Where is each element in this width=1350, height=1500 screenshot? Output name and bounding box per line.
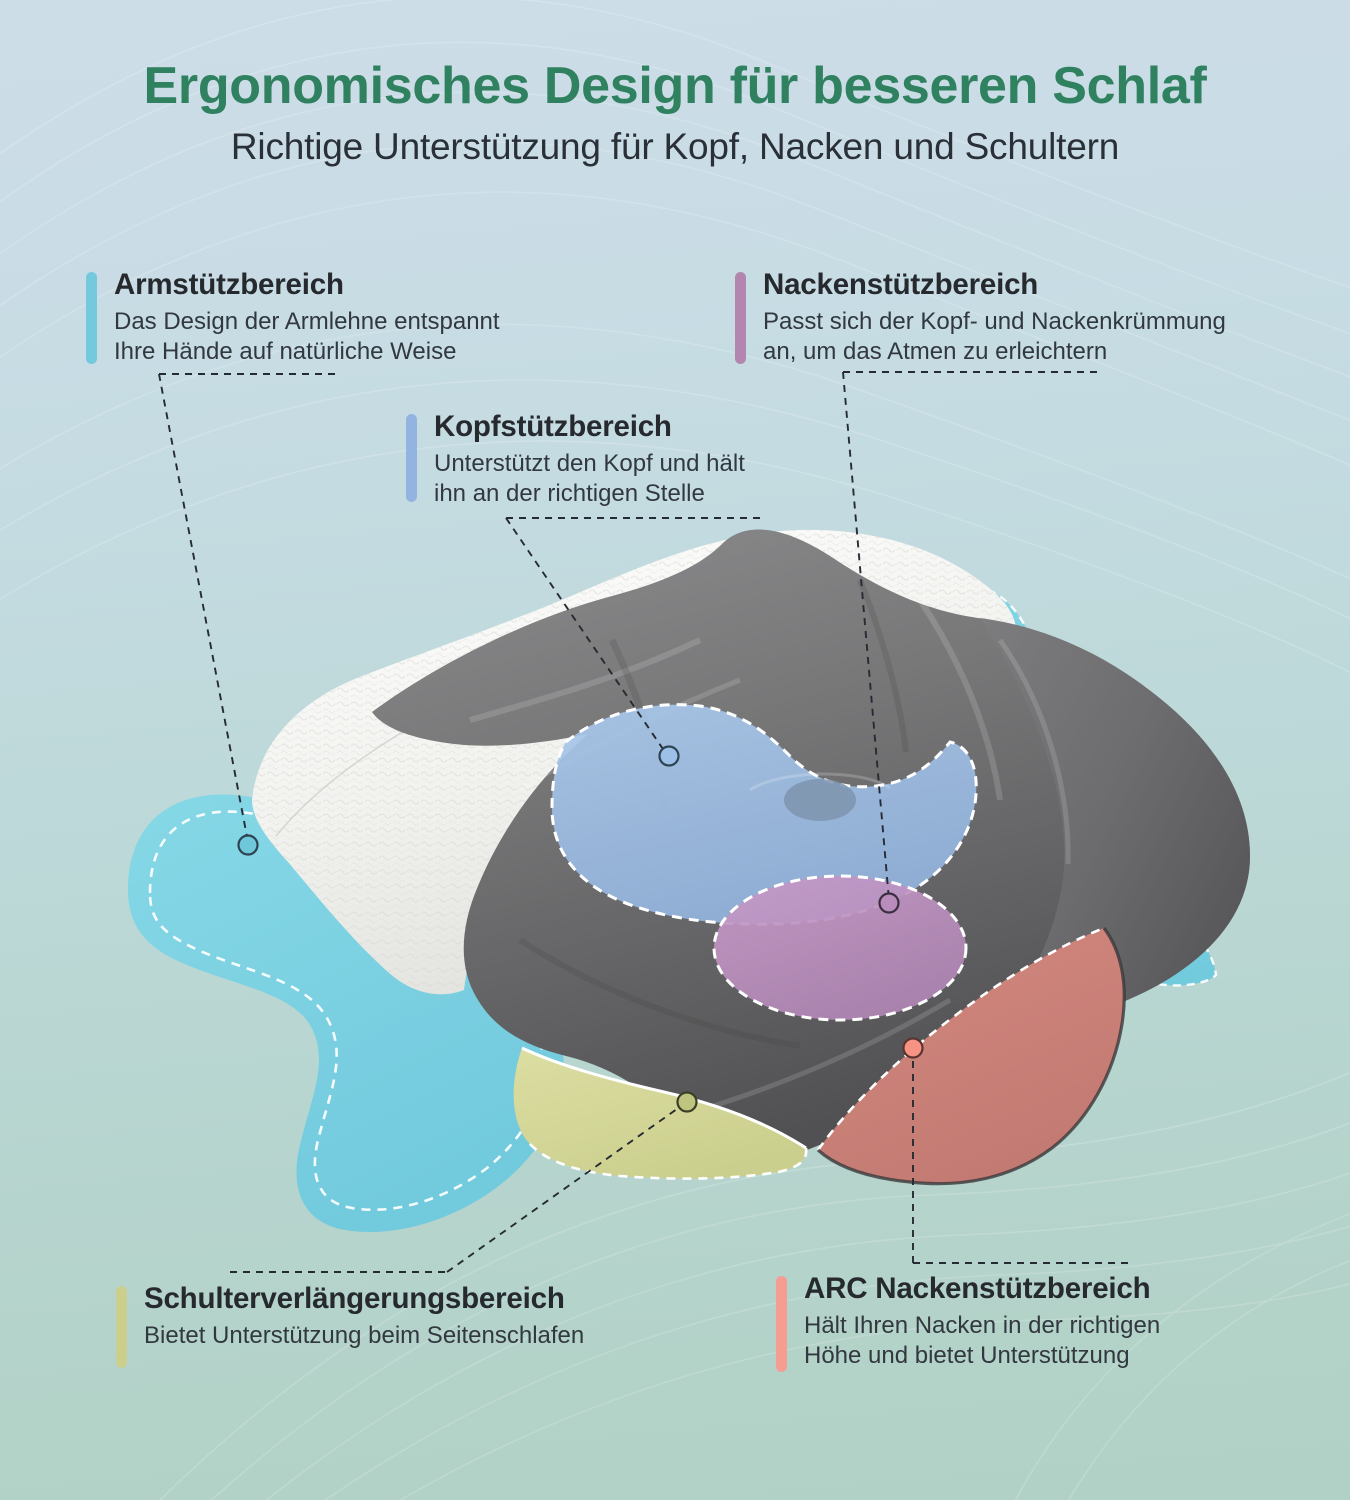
- marker-dot-arm: [239, 836, 258, 855]
- accent-bar-arc: [776, 1276, 787, 1372]
- callout-neck-heading: Nackenstützbereich: [763, 268, 1226, 301]
- callout-arm-description: Das Design der Armlehne entspannt Ihre H…: [114, 307, 500, 367]
- leader-line-head-drop: [506, 518, 665, 752]
- region-arm-support-right-upper: [964, 590, 1044, 790]
- callout-arm-heading: Armstützbereich: [114, 268, 500, 301]
- callout-neck-description: Passt sich der Kopf- und Nackenkrümmung …: [763, 307, 1226, 367]
- leader-line-neck-drop: [843, 372, 889, 900]
- callout-head-description: Unterstützt den Kopf und hält ihn an der…: [434, 449, 745, 509]
- accent-bar-arm: [86, 272, 97, 364]
- region-arm-support: [128, 794, 564, 1232]
- region-arc-neck-support: [818, 928, 1124, 1184]
- region-head-support: [552, 705, 976, 925]
- callout-arc-neck-support[interactable]: ARC Nackenstützbereich Hält Ihren Nacken…: [776, 1272, 1160, 1372]
- callout-head-heading: Kopfstützbereich: [434, 410, 745, 443]
- leader-line-shoulder-drop: [447, 1104, 684, 1272]
- region-shoulder-extension: [514, 1048, 807, 1179]
- pillow-cover: [252, 530, 1016, 994]
- marker-dot-head: [660, 747, 679, 766]
- infographic-canvas: Ergonomisches Design für besseren Schlaf…: [0, 0, 1350, 1500]
- accent-bar-head: [406, 414, 417, 502]
- callout-neck-support[interactable]: Nackenstützbereich Passt sich der Kopf- …: [735, 268, 1226, 367]
- leader-line-arm-drop: [159, 374, 248, 842]
- pillow-foam-body: [372, 529, 1250, 1157]
- marker-dot-shoulder: [678, 1093, 697, 1112]
- page-title: Ergonomisches Design für besseren Schlaf: [0, 58, 1350, 114]
- marker-dot-neck: [880, 894, 899, 913]
- callout-arc-heading: ARC Nackenstützbereich: [804, 1272, 1160, 1305]
- callout-head-support[interactable]: Kopfstützbereich Unterstützt den Kopf un…: [406, 410, 745, 509]
- page-subtitle: Richtige Unterstützung für Kopf, Nacken …: [0, 124, 1350, 170]
- header: Ergonomisches Design für besseren Schlaf…: [0, 0, 1350, 170]
- callout-arc-description: Hält Ihren Nacken in der richtigen Höhe …: [804, 1311, 1160, 1371]
- region-arm-support-right-lower: [1080, 903, 1216, 985]
- marker-dots: [239, 747, 923, 1112]
- accent-bar-shoulder: [116, 1286, 127, 1368]
- callout-shoulder-description: Bietet Unterstützung beim Seitenschlafen: [144, 1321, 584, 1351]
- accent-bar-neck: [735, 272, 746, 364]
- marker-dot-arc: [904, 1039, 923, 1058]
- callout-arm-support[interactable]: Armstützbereich Das Design der Armlehne …: [86, 268, 500, 367]
- callout-shoulder-extension[interactable]: Schulterverlängerungsbereich Bietet Unte…: [116, 1282, 584, 1368]
- region-neck-support: [714, 876, 966, 1020]
- callout-shoulder-heading: Schulterverlängerungsbereich: [144, 1282, 584, 1315]
